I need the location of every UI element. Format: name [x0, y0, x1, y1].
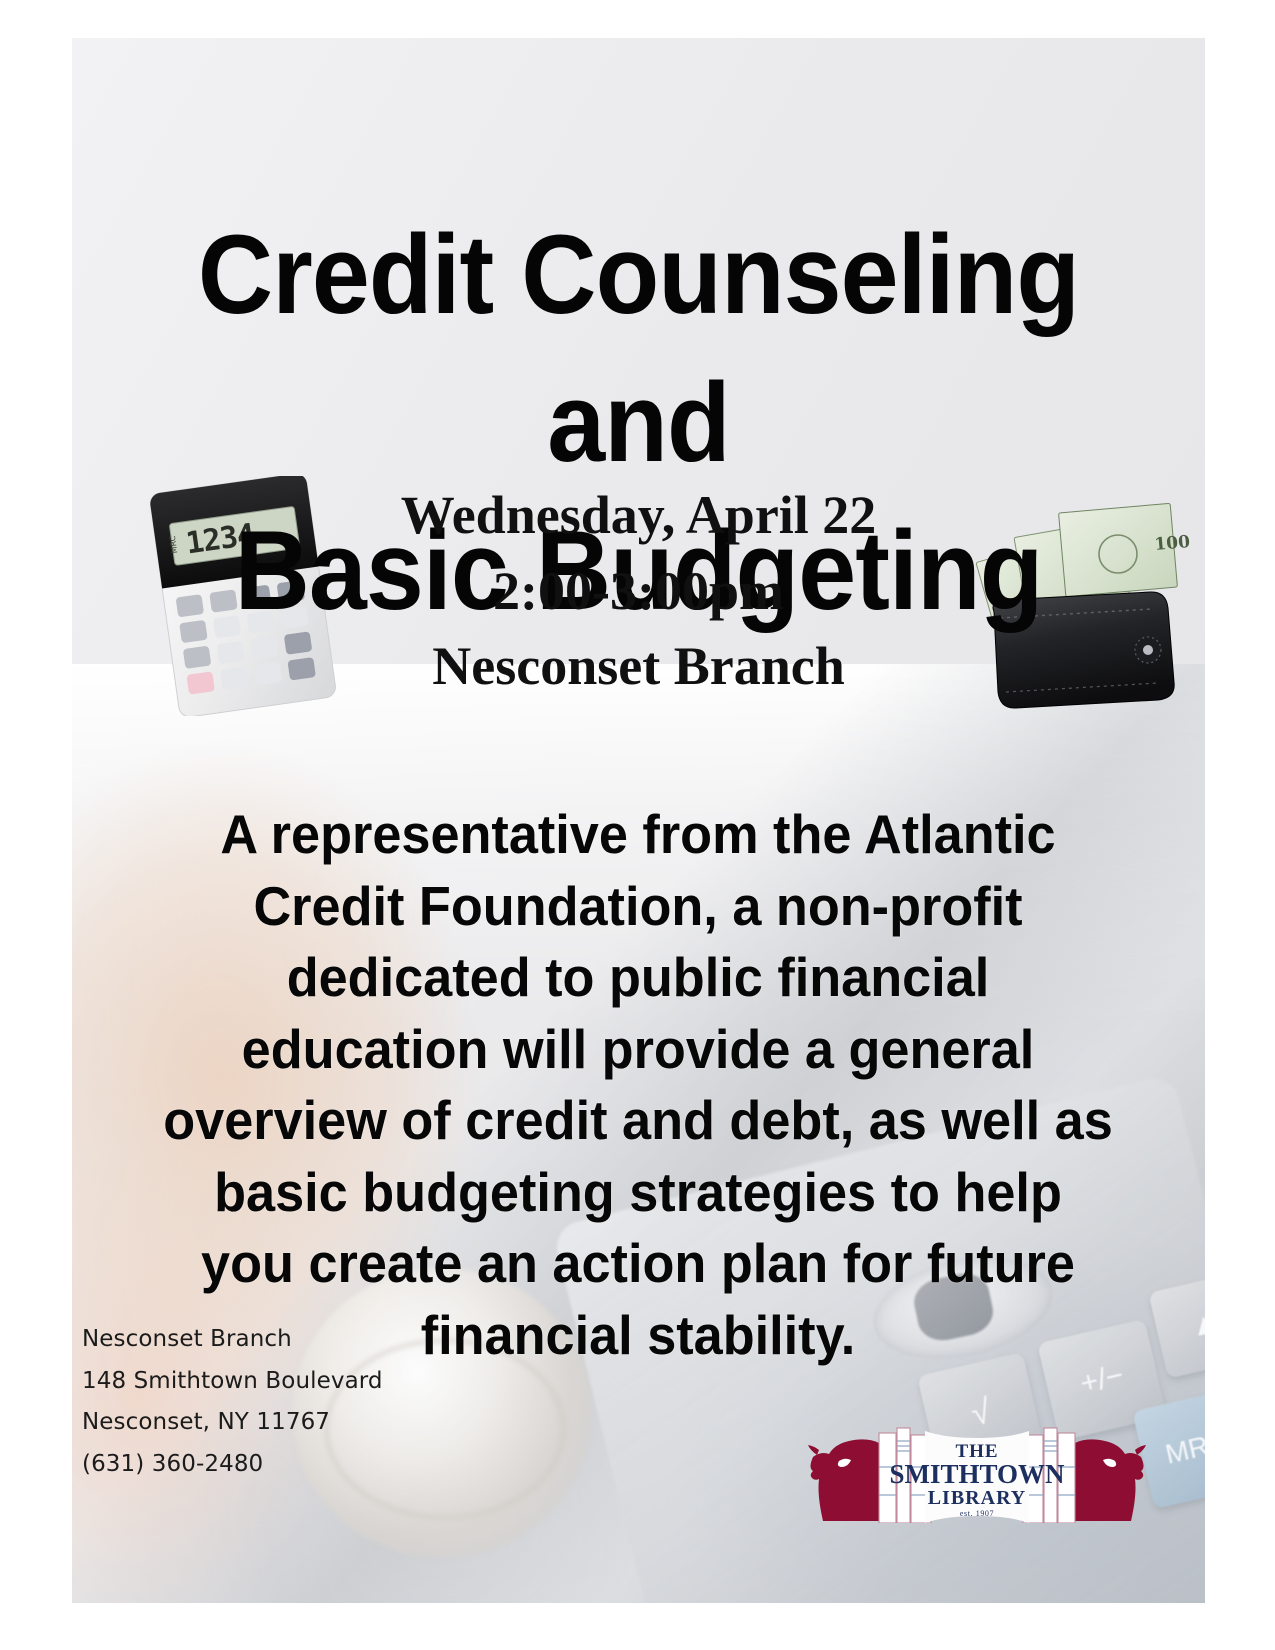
event-date: Wednesday, April 22 — [72, 478, 1205, 554]
event-location: Nesconset Branch — [72, 629, 1205, 705]
event-time: 2:00-3:00pm — [72, 554, 1205, 630]
logo-text-library: LIBRARY — [928, 1487, 1027, 1509]
address-city-state-zip: Nesconset, NY 11767 — [82, 1402, 383, 1443]
event-details: Wednesday, April 22 2:00-3:00pm Nesconse… — [72, 478, 1205, 705]
logo-text-established: est. 1907 — [960, 1509, 994, 1518]
address-street: 148 Smithtown Boulevard — [82, 1361, 383, 1402]
flyer-canvas: √ +/− MRC ▲ 1234 — [72, 38, 1205, 1603]
headline-line-1: Credit Counseling and — [112, 201, 1166, 497]
address-branch: Nesconset Branch — [82, 1319, 383, 1360]
library-logo-artwork: THE SMITHTOWN LIBRARY est. 1907 — [807, 1405, 1147, 1523]
logo-text-smithtown: SMITHTOWN — [889, 1459, 1065, 1489]
poster-page: √ +/− MRC ▲ 1234 — [0, 0, 1275, 1650]
event-description: A representative from the Atlantic Credi… — [163, 799, 1113, 1371]
address-phone: (631) 360-2480 — [82, 1444, 383, 1485]
smithtown-library-logo: THE SMITHTOWN LIBRARY est. 1907 — [807, 1405, 1147, 1523]
branch-address-block: Nesconset Branch 148 Smithtown Boulevard… — [82, 1319, 383, 1485]
